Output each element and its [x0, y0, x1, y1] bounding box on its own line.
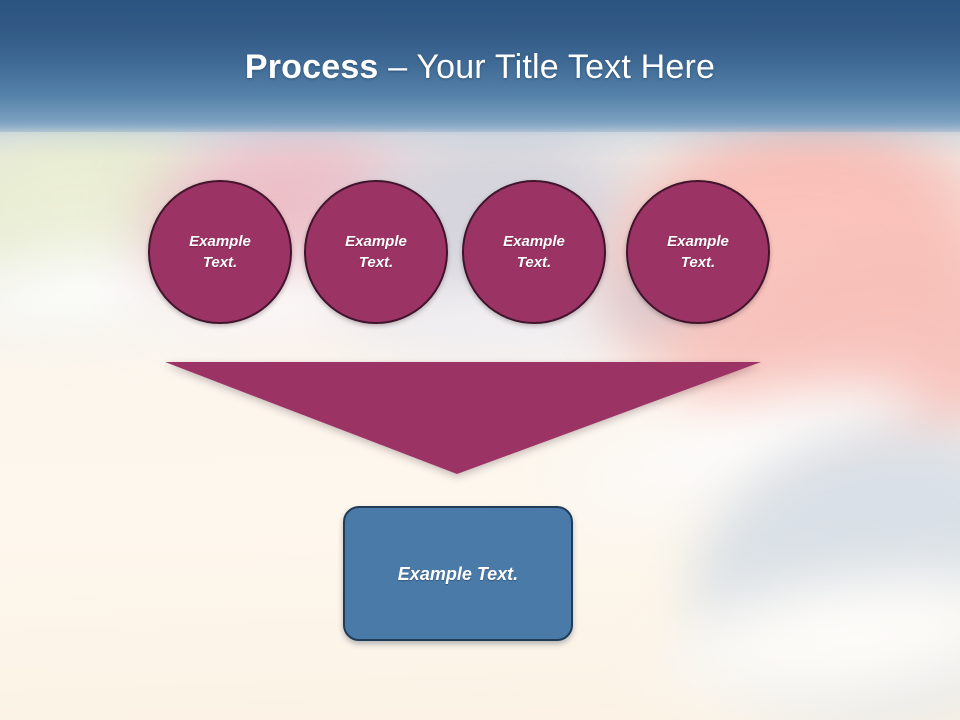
page-title: Process – Your Title Text Here: [0, 46, 960, 88]
result-box[interactable]: Example Text.: [343, 506, 573, 641]
down-arrow-icon[interactable]: [165, 362, 761, 474]
page-title-strong: Process: [245, 48, 379, 86]
slide-canvas: Process – Your Title Text Here Example T…: [0, 0, 960, 720]
process-circle-4[interactable]: Example Text.: [626, 180, 770, 324]
page-title-rest: – Your Title Text Here: [379, 48, 716, 86]
process-circle-1-label: Example Text.: [171, 231, 269, 273]
result-box-label: Example Text.: [398, 562, 518, 586]
process-circle-1[interactable]: Example Text.: [148, 180, 292, 324]
title-banner-fade: [0, 120, 960, 158]
process-circle-2-label: Example Text.: [327, 231, 425, 273]
process-circle-3[interactable]: Example Text.: [462, 180, 606, 324]
process-circle-2[interactable]: Example Text.: [304, 180, 448, 324]
process-circle-4-label: Example Text.: [649, 231, 747, 273]
process-circle-3-label: Example Text.: [485, 231, 583, 273]
